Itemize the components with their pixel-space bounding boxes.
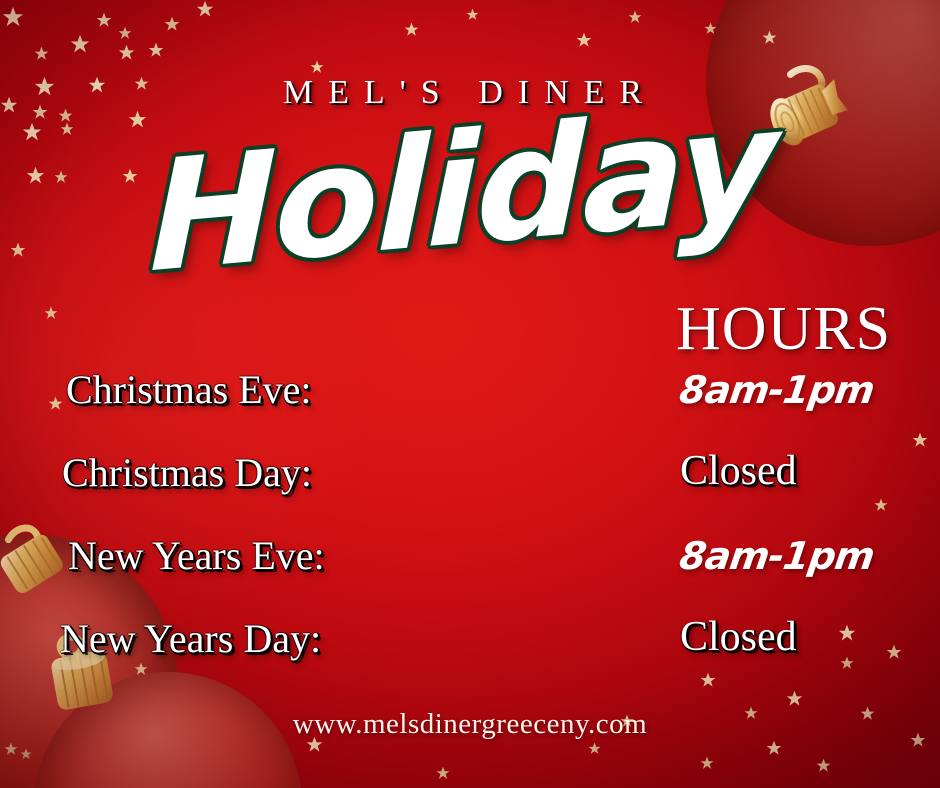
schedule-time-value: 8am-1pm bbox=[677, 368, 877, 412]
schedule-day-label: New Years Eve: bbox=[68, 532, 325, 579]
headline-holiday-text: Holiday bbox=[149, 89, 749, 294]
schedule-time-value: Closed bbox=[680, 447, 797, 495]
schedule-row: New Years Day: Closed bbox=[0, 617, 940, 702]
holiday-hours-list: Christmas Eve: 8am-1pm Christmas Day: Cl… bbox=[0, 362, 940, 702]
schedule-day-label: Christmas Eve: bbox=[66, 366, 312, 413]
schedule-row: Christmas Day: Closed bbox=[0, 447, 940, 532]
holiday-hours-poster: MEL'S DINER Holiday HOURS Christmas Eve:… bbox=[0, 0, 940, 788]
schedule-time-value: 8am-1pm bbox=[677, 534, 877, 578]
schedule-time-value: Closed bbox=[680, 613, 797, 661]
schedule-day-label: Christmas Day: bbox=[62, 449, 312, 496]
schedule-row: New Years Eve: 8am-1pm bbox=[0, 532, 940, 617]
headline-hours-text: HOURS bbox=[676, 294, 891, 365]
schedule-row: Christmas Eve: 8am-1pm bbox=[0, 362, 940, 447]
schedule-day-label: New Years Day: bbox=[60, 615, 321, 662]
website-url[interactable]: www.melsdinergreeceny.com bbox=[0, 708, 940, 741]
headline-holiday: Holiday bbox=[150, 142, 750, 342]
